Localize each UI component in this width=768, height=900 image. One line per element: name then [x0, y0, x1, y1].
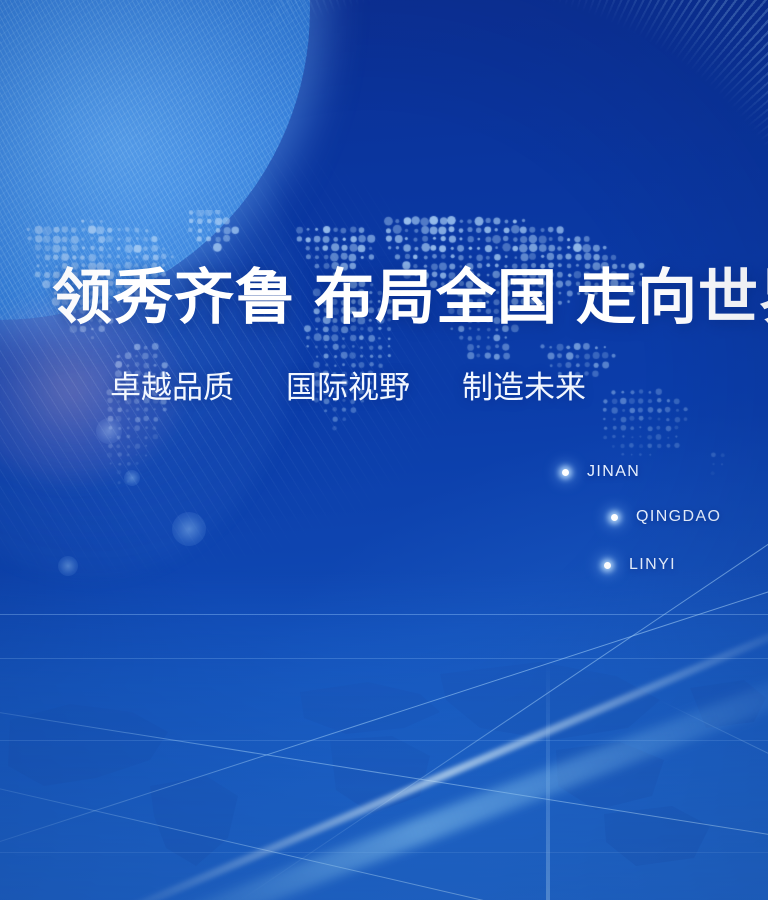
location-dot-icon — [611, 514, 618, 521]
page-subtitle: 卓越品质国际视野制造未来 — [110, 372, 586, 403]
bokeh-circle — [96, 418, 122, 444]
location-dot-icon — [562, 469, 569, 476]
light-beam — [111, 678, 768, 900]
city-label-qingdao: QINGDAO — [636, 508, 721, 526]
city-label-jinan: JINAN — [587, 463, 640, 481]
bokeh-circle — [58, 556, 78, 576]
city-marker-jinan[interactable]: JINAN — [562, 463, 640, 481]
city-marker-qingdao[interactable]: QINGDAO — [611, 508, 721, 526]
page-title: 领秀齐鲁布局全国走向世界 — [52, 268, 768, 328]
bokeh-circle — [172, 512, 206, 546]
vignette-overlay — [0, 0, 768, 900]
bokeh-circle — [124, 470, 140, 486]
headline-segment-1: 领秀齐鲁 — [52, 265, 296, 331]
perspective-ray — [0, 690, 768, 866]
city-label-linyi: LINYI — [629, 556, 676, 574]
city-marker-linyi[interactable]: LINYI — [604, 556, 676, 574]
perspective-ray — [660, 700, 768, 900]
location-dot-icon — [604, 562, 611, 569]
perspective-ray — [0, 756, 768, 900]
perspective-ground-plane — [0, 570, 768, 900]
headline-segment-2: 布局全国 — [314, 265, 558, 331]
perspective-ray — [546, 660, 550, 900]
headline-segment-3: 走向世界 — [576, 265, 768, 331]
continent-silhouettes — [0, 600, 768, 900]
banner-stage: 领秀齐鲁布局全国走向世界 卓越品质国际视野制造未来 JINAN QINGDAO … — [0, 0, 768, 900]
perspective-ray — [240, 352, 768, 900]
light-beam-core — [87, 618, 768, 900]
subtitle-segment-3: 制造未来 — [462, 370, 586, 405]
subtitle-segment-2: 国际视野 — [286, 370, 410, 405]
subtitle-segment-1: 卓越品质 — [110, 370, 234, 405]
ground-grid-horizontals — [0, 600, 768, 900]
